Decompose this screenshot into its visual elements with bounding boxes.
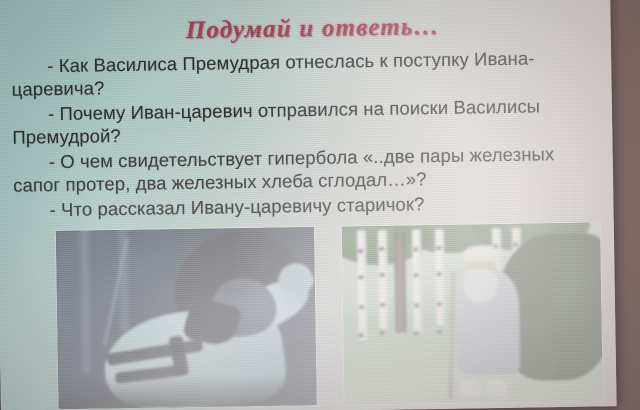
old-man-hat	[463, 245, 499, 262]
dark-trunk	[394, 233, 407, 333]
presentation-slide: Подумай и ответь… - Как Василиса Премудр…	[0, 0, 617, 410]
question-item-3: - О чем свидетельствует гипербола «..две…	[11, 141, 598, 197]
question-list: - Как Василиса Премудрая отнеслась к пос…	[9, 46, 598, 223]
forest-scene	[342, 223, 603, 405]
question-item-1: - Как Василиса Премудрая отнеслась к пос…	[9, 46, 596, 102]
slide-content: Подумай и ответь… - Как Василиса Премудр…	[8, 0, 597, 223]
illustration-row	[56, 223, 603, 410]
starichok-illustration	[342, 223, 603, 405]
slide-title: Подумай и ответь…	[8, 0, 595, 48]
birch-trunk	[378, 229, 389, 329]
projected-slide-photo: Подумай и ответь… - Как Василиса Премудр…	[0, 0, 640, 410]
question-item-2: - Почему Иван-царевич отправился на поис…	[10, 94, 597, 150]
birch-trunk	[412, 229, 423, 332]
ivan-tsarevich-illustration	[56, 227, 317, 409]
old-man-boot	[486, 379, 506, 395]
old-man-boot	[460, 379, 480, 395]
birch-trunk	[435, 229, 446, 325]
ivan-scene	[56, 227, 317, 409]
scene-shadow	[58, 373, 316, 409]
